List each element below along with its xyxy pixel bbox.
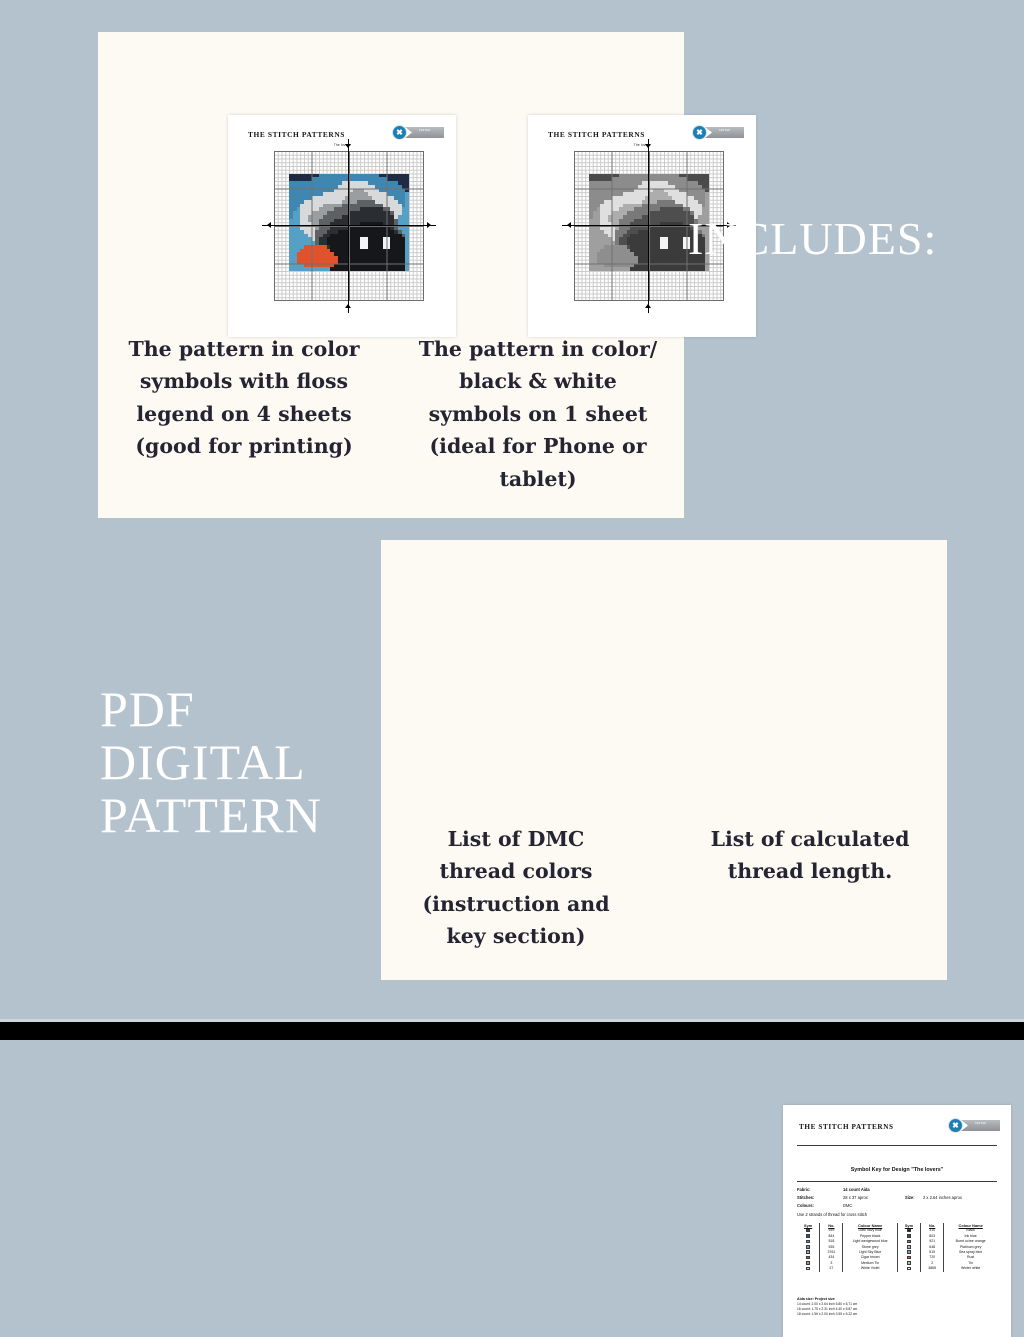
badge-cross-icon: ✖: [396, 129, 403, 137]
symbol-key-row: 27White Violet3865Winter white: [797, 1266, 997, 1271]
size-label: Size:: [905, 1195, 915, 1200]
stitches-value: 28 x 37 aprox: [843, 1195, 868, 1200]
sheet-brand-title: THE STITCH PATTERNS: [548, 130, 645, 139]
caption-bw-symbols: The pattern in color/ black & white symb…: [412, 333, 664, 495]
center-marker-left: [567, 222, 571, 228]
project-size-footer: Aida size: Project size 14 count: 2.00 x…: [797, 1297, 857, 1317]
badge-cross-icon: ✖: [696, 129, 703, 137]
badge-ribbon-text: TESTER: [405, 127, 444, 133]
stitches-label: Stitches:: [797, 1195, 814, 1200]
chart-grid-color: [274, 151, 424, 301]
fabric-label: Fabric:: [797, 1187, 811, 1192]
center-marker-bottom: [345, 304, 351, 308]
badge-cross-icon: ✖: [952, 1122, 959, 1130]
includes-heading: INCLUDES:: [688, 215, 937, 264]
project-size-line: 18 count: 1.56 x 2.00 inch 3.95 x 5.22 c…: [797, 1312, 857, 1317]
center-marker-top: [345, 144, 351, 148]
axis-vertical: [648, 139, 649, 313]
colours-label: Colours:: [797, 1203, 814, 1208]
sheet-brand-title: THE STITCH PATTERNS: [799, 1123, 894, 1131]
badge-ribbon-text: TESTER: [961, 1120, 1000, 1126]
colours-value: DMC: [843, 1203, 852, 1208]
pdf-heading-line-1: PDF: [100, 683, 322, 736]
axis-horizontal: [262, 225, 436, 226]
axis-vertical: [348, 139, 349, 313]
center-marker-left: [267, 222, 271, 228]
pdf-heading-line-3: PATTERN: [100, 789, 322, 842]
caption-thread-length: List of calculated thread length.: [690, 823, 930, 888]
center-marker-top: [645, 144, 651, 148]
badge-ribbon: TESTER: [961, 1120, 1000, 1131]
badge-ribbon: TESTER: [405, 127, 444, 138]
pattern-tested-badge: TESTER ✖: [692, 125, 744, 140]
badge-disc: ✖: [948, 1118, 963, 1133]
badge-disc: ✖: [392, 125, 407, 140]
badge-disc: ✖: [692, 125, 707, 140]
pattern-tested-badge: TESTER ✖: [948, 1118, 1000, 1133]
size-value: 2 x 2.64 inches aprox: [923, 1195, 962, 1200]
strands-note: Use 2 strands of thread for cross stitch: [797, 1212, 867, 1217]
symbol-key-table: SymNo.Colour NameSymNo.Colour Name 939Da…: [797, 1223, 997, 1272]
header-divider: [797, 1145, 997, 1146]
poster-stage: THE STITCH PATTERNS TESTER ✖ The lovers: [0, 0, 1024, 1040]
pdf-digital-pattern-heading: PDF DIGITAL PATTERN: [100, 683, 322, 842]
sheet-brand-title: THE STITCH PATTERNS: [248, 130, 345, 139]
project-size-lines: 14 count: 2.00 x 2.64 inch 5.80 x 6.71 c…: [797, 1302, 857, 1317]
grid-border: [274, 151, 424, 301]
bottom-black-band: [0, 1022, 1024, 1040]
badge-ribbon-text: TESTER: [705, 127, 744, 133]
center-marker-right: [427, 222, 431, 228]
symbol-key-body: 939Dark navy blue310Black844Pepper black…: [797, 1228, 997, 1271]
preview-sheet-symbol-key[interactable]: THE STITCH PATTERNS TESTER ✖ Symbol Key …: [783, 1105, 1011, 1337]
preview-sheet-color-symbols[interactable]: THE STITCH PATTERNS TESTER ✖ The lovers: [228, 115, 456, 337]
caption-dmc-list: List of DMC thread colors (instruction a…: [408, 823, 624, 953]
fabric-value: 14 count Aida: [843, 1187, 870, 1192]
caption-color-symbols: The pattern in color symbols with floss …: [128, 333, 360, 463]
title-divider: [797, 1181, 997, 1182]
chart-design-label: The lovers: [228, 143, 456, 147]
center-marker-bottom: [645, 304, 651, 308]
symbol-key-title: Symbol Key for Design "The lovers": [783, 1167, 1011, 1173]
pattern-tested-badge: TESTER ✖: [392, 125, 444, 140]
chart-design-label: The lovers: [528, 143, 756, 147]
badge-ribbon: TESTER: [705, 127, 744, 138]
pdf-heading-line-2: DIGITAL: [100, 736, 322, 789]
